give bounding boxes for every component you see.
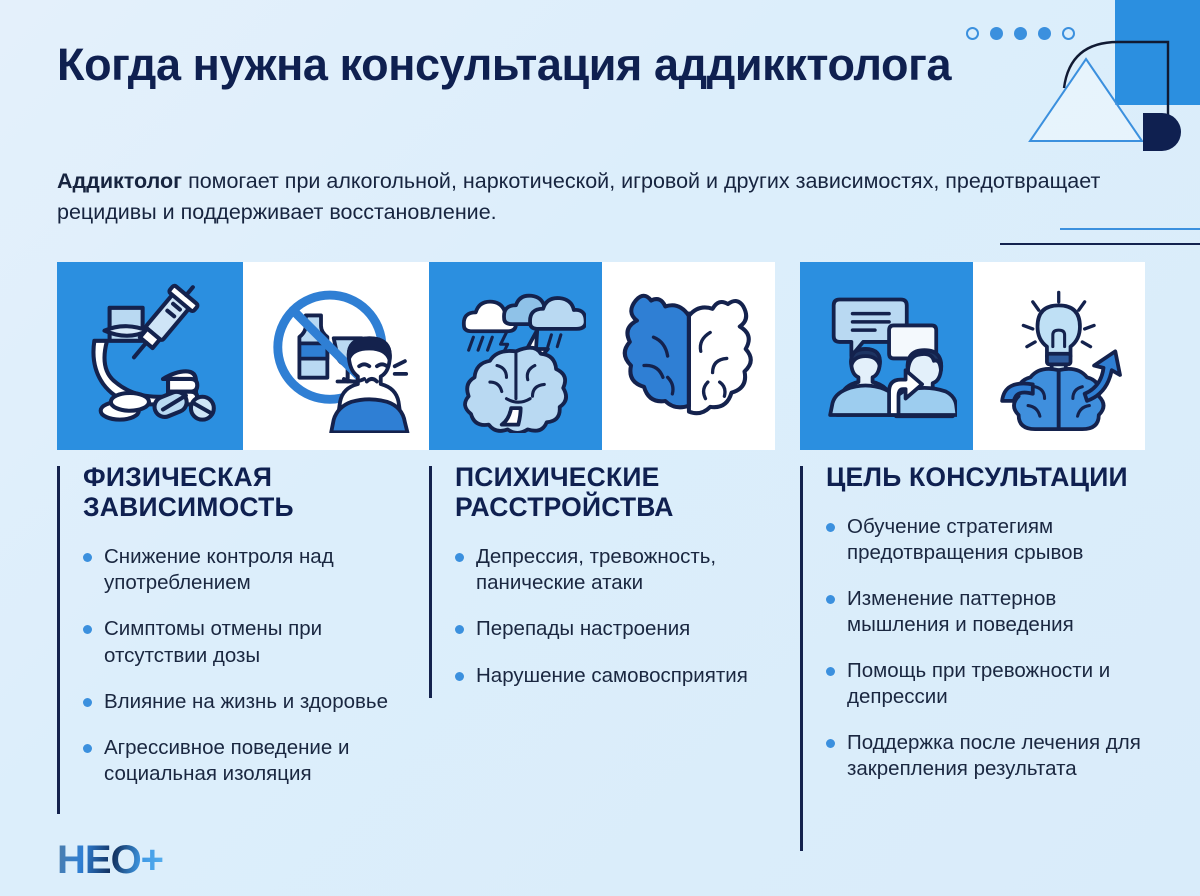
icon-tile-no-alcohol	[243, 262, 429, 450]
decorative-dot-row	[966, 27, 1075, 40]
column-3-heading: ЦЕЛЬ КОНСУЛЬТАЦИИ	[826, 462, 1148, 492]
page-title: Когда нужна консультация аддикктолога	[57, 38, 957, 91]
column-2-heading: ПСИХИЧЕСКИЕ РАССТРОЙСТВА	[455, 462, 774, 522]
column-3-list: Обучение стратегиям предотвращения срыво…	[826, 514, 1148, 782]
column-divider-2	[429, 466, 432, 698]
brain-lightbulb-arrows-icon	[988, 279, 1129, 433]
no-alcohol-sad-person-icon	[260, 279, 413, 433]
icon-tile-brain-storm	[429, 262, 602, 450]
decorative-half-circle-icon	[1143, 113, 1181, 151]
icon-strip	[0, 262, 1200, 450]
subtitle-text: помогает при алкогольной, наркотической,…	[57, 169, 1100, 224]
list-item: Снижение контроля над употреблением	[83, 544, 402, 596]
people-speech-bubbles-icon	[816, 279, 957, 433]
list-item: Влияние на жизнь и здоровье	[83, 689, 402, 715]
list-item: Нарушение самовосприятия	[455, 663, 774, 689]
icon-tile-brain-bulb	[973, 262, 1146, 450]
list-item: Помощь при тревожности и депрессии	[826, 658, 1148, 710]
column-2-list: Депрессия, тревожность, панические атаки…	[455, 544, 774, 688]
dot-1-icon	[966, 27, 979, 40]
column-consultation-goal: ЦЕЛЬ КОНСУЛЬТАЦИИ Обучение стратегиям пр…	[800, 462, 1148, 802]
icon-tile-people-dialog	[800, 262, 973, 450]
brand-logo: НЕО+	[57, 838, 163, 883]
decorative-line-dark	[1000, 243, 1200, 245]
list-item: Поддержка после лечения для закрепления …	[826, 730, 1148, 782]
icon-group-physical	[57, 262, 429, 450]
column-mental-disorders: ПСИХИЧЕСКИЕ РАССТРОЙСТВА Депрессия, трев…	[429, 462, 774, 709]
icon-group-mental	[429, 262, 775, 450]
column-divider-1	[57, 466, 60, 814]
column-divider-3	[800, 466, 803, 851]
icon-group-goal	[800, 262, 1145, 450]
icon-tile-arm-syringe	[57, 262, 243, 450]
column-physical-dependence: ФИЗИЧЕСКАЯ ЗАВИСИМОСТЬ Снижение контроля…	[57, 462, 402, 807]
list-item: Изменение паттернов мышления и поведения	[826, 586, 1148, 638]
dot-3-icon	[1014, 27, 1027, 40]
list-item: Обучение стратегиям предотвращения срыво…	[826, 514, 1148, 566]
heart-brain-split-icon	[618, 279, 760, 433]
icon-tile-heart-brain	[602, 262, 775, 450]
column-1-list: Снижение контроля над употреблением Симп…	[83, 544, 402, 786]
list-item: Депрессия, тревожность, панические атаки	[455, 544, 774, 596]
column-1-heading: ФИЗИЧЕСКАЯ ЗАВИСИМОСТЬ	[83, 462, 402, 522]
subtitle-highlight: Аддиктолог	[57, 169, 182, 193]
decorative-line-light	[1060, 228, 1200, 230]
brain-storm-cloud-icon	[445, 279, 587, 433]
page-subtitle: Аддиктолог помогает при алкогольной, нар…	[57, 166, 1122, 227]
list-item: Перепады настроения	[455, 616, 774, 642]
dot-4-icon	[1038, 27, 1051, 40]
dot-2-icon	[990, 27, 1003, 40]
list-item: Симптомы отмены при отсутствии дозы	[83, 616, 402, 668]
arm-syringe-pills-icon	[74, 279, 227, 433]
list-item: Агрессивное поведение и социальная изоля…	[83, 735, 402, 787]
